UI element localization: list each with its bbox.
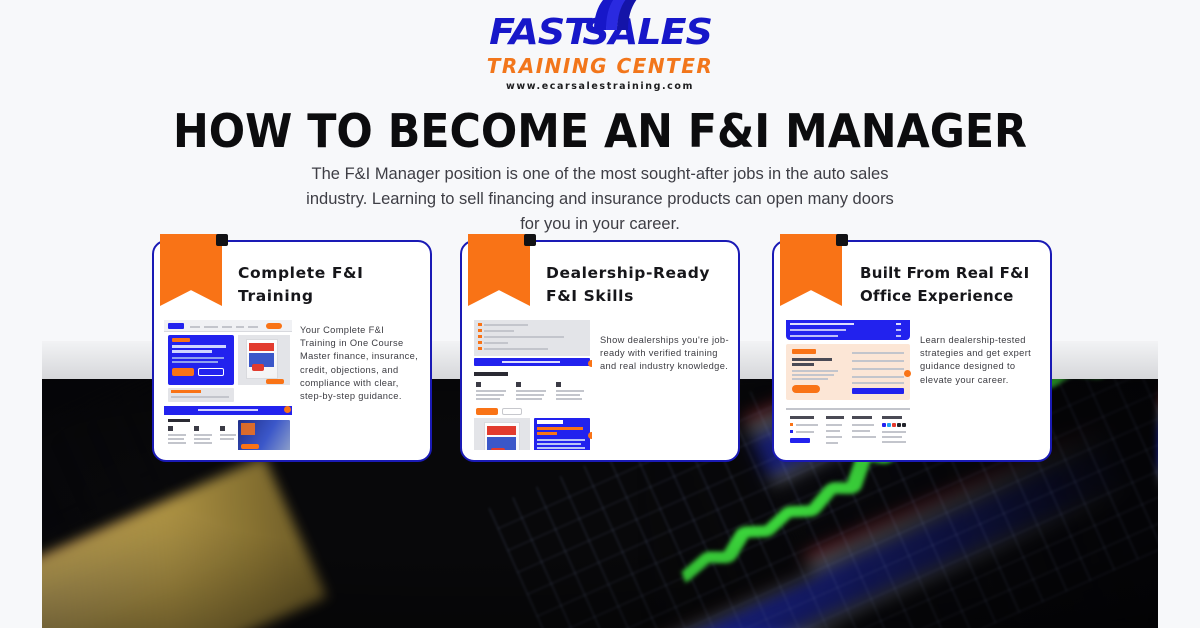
feature-card[interactable]: Dealership-Ready F&I Skills xyxy=(460,240,740,462)
feature-card[interactable]: Complete F&I Training xyxy=(152,240,432,462)
accent-dot xyxy=(904,370,911,377)
ribbon-tab-icon xyxy=(836,234,848,246)
card-description: Learn dealership-tested strategies and g… xyxy=(920,320,1042,450)
card-body: Show dealerships you're job-ready with v… xyxy=(472,320,730,450)
card-body: Learn dealership-tested strategies and g… xyxy=(784,320,1042,450)
card-body: Your Complete F&I Training in One Course… xyxy=(164,320,422,450)
course-homepage-screenshot xyxy=(164,320,292,450)
card-title: Dealership-Ready F&I Skills xyxy=(546,262,728,308)
bookmark-ribbon-icon xyxy=(160,234,222,306)
faq-contact-page-screenshot xyxy=(784,320,912,450)
card-description: Show dealerships you're job-ready with v… xyxy=(600,320,730,450)
feature-card[interactable]: Built From Real F&I Office Experience xyxy=(772,240,1052,462)
accent-dot xyxy=(284,406,291,413)
accent-dot xyxy=(588,432,592,439)
bookmark-ribbon-icon xyxy=(468,234,530,306)
ribbon-tab-icon xyxy=(216,234,228,246)
card-title: Built From Real F&I Office Experience xyxy=(860,262,1046,308)
card-description: Your Complete F&I Training in One Course… xyxy=(300,320,422,450)
curriculum-page-screenshot xyxy=(472,320,592,450)
ribbon-tab-icon xyxy=(524,234,536,246)
accent-dot xyxy=(588,360,592,367)
card-title: Complete F&I Training xyxy=(238,262,420,308)
poster-canvas: FAST SALES TRAINING CENTER www.ecarsales… xyxy=(0,0,1200,628)
bookmark-ribbon-icon xyxy=(780,234,842,306)
feature-card-row: Complete F&I Training xyxy=(0,0,1200,628)
